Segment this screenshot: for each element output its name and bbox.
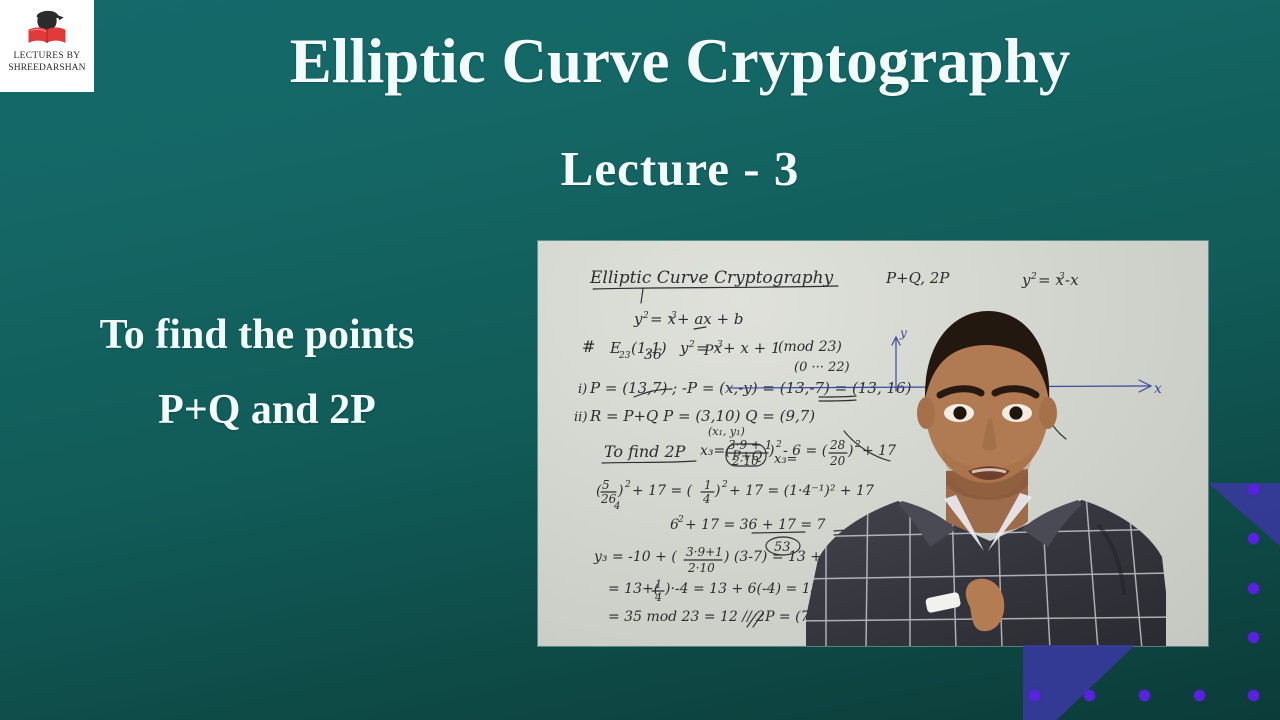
decor-dot: [1248, 583, 1259, 594]
decor-dot: [1084, 690, 1095, 701]
wb-title: Elliptic Curve Cryptography: [589, 268, 834, 288]
svg-text:2: 2: [721, 480, 728, 490]
svg-text:4: 4: [654, 591, 662, 604]
svg-text:): ): [617, 483, 623, 499]
logo-line-2: SHREEDARSHAN: [8, 62, 85, 74]
svg-text:1: 1: [655, 578, 662, 591]
svg-text:2: 2: [775, 440, 782, 450]
wb-label-P: P: [703, 343, 714, 359]
decor-dot: [1139, 690, 1150, 701]
wb-curve-equation: y: [1021, 271, 1031, 289]
svg-text:2: 2: [642, 311, 649, 321]
svg-text:23: 23: [618, 351, 631, 361]
graduate-with-open-book-icon: [20, 6, 74, 50]
decor-triangle-bottom-right: [1023, 645, 1135, 720]
decor-dot: [1248, 484, 1259, 495]
svg-text:x₃=: x₃=: [774, 452, 797, 467]
logo-line-1: LECTURES BY: [14, 50, 81, 62]
svg-text:+ ax + b: + ax + b: [677, 310, 743, 328]
decor-dot: [1194, 690, 1205, 701]
svg-text:+ x + 1: + x + 1: [723, 339, 780, 357]
svg-text:2: 2: [624, 480, 631, 490]
caption-line-1: To find the points: [18, 298, 504, 373]
wb-step-i-num: i): [578, 382, 587, 397]
wb-hash: #: [582, 337, 595, 356]
svg-text:4: 4: [613, 501, 620, 512]
wb-y3-line3: = 35 mod 23 = 12 // 2P = (7,12): [608, 609, 837, 625]
slide-caption: To find the points P+Q and 2P: [18, 298, 504, 448]
svg-text:3·9+1: 3·9+1: [686, 545, 723, 559]
svg-text:1: 1: [704, 478, 712, 492]
decor-dot: [1029, 690, 1040, 701]
svg-text:2·10: 2·10: [687, 561, 715, 575]
wb-label-36: 36: [644, 347, 662, 363]
svg-text:4: 4: [702, 492, 711, 506]
svg-text:5: 5: [602, 478, 610, 492]
wb-step-ii-num: ii): [574, 410, 587, 425]
decor-triangle-top-right: [1208, 483, 1280, 546]
svg-text:): ): [714, 483, 720, 499]
svg-text:+ 17 = (: + 17 = (: [632, 483, 693, 499]
wb-note-pq-2p: P+Q, 2P: [885, 269, 950, 287]
presentation-slide: LECTURES BY SHREEDARSHAN Elliptic Curve …: [0, 0, 1280, 720]
wb-step-ii: R = P+Q P = (3,10) Q = (9,7): [589, 407, 815, 425]
decor-dot: [1248, 690, 1259, 701]
wb-general-form: y: [633, 310, 643, 328]
svg-text:2: 2: [677, 515, 684, 525]
decor-dot: [1248, 533, 1259, 544]
svg-text:2: 2: [1030, 272, 1037, 282]
svg-text:2: 2: [688, 340, 695, 350]
page-title: Elliptic Curve Cryptography: [150, 28, 1210, 94]
wb-find-2p-heading: To find 2P: [604, 442, 686, 461]
wb-label-pq: P+Q: [731, 449, 763, 464]
wb-y3-line1: y₃ = -10 + (: [593, 549, 677, 565]
wb-y3-line2: = 13+(: [608, 581, 660, 597]
lecture-subtitle: Lecture - 3: [150, 140, 1210, 197]
channel-logo-card: LECTURES BY SHREEDARSHAN: [0, 0, 94, 92]
presenter-person: [806, 289, 1166, 646]
video-panel[interactable]: Elliptic Curve Cryptography P+Q, 2P y 2 …: [538, 241, 1208, 646]
svg-text:y: y: [679, 339, 689, 357]
decor-dot: [1248, 632, 1259, 643]
svg-text:+ 17 = 36 + 17 = 7: + 17 = 36 + 17 = 7: [685, 517, 826, 533]
caption-line-2: P+Q and 2P: [18, 373, 504, 448]
wb-step-ii-sub: (x₁, y₁): [708, 425, 745, 438]
svg-text:-x: -x: [1065, 271, 1079, 289]
